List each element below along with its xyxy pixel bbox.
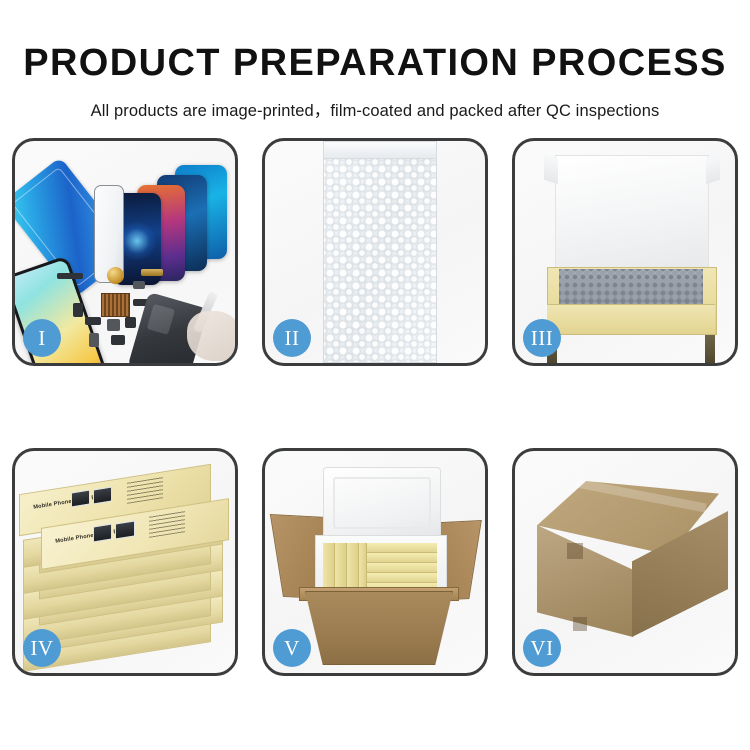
- part-small-c-icon: [85, 317, 101, 325]
- step-badge-6: VI: [523, 629, 561, 667]
- process-step-5[interactable]: V: [262, 448, 488, 676]
- process-step-3[interactable]: III: [512, 138, 738, 366]
- carton-tab-upper-icon: [567, 543, 583, 559]
- part-small-d-icon: [107, 319, 120, 331]
- box-front-panel-icon: [547, 304, 715, 334]
- part-small-h-icon: [111, 335, 125, 345]
- vibration-motor-icon: [107, 267, 124, 284]
- box-corner-right-icon: [705, 335, 715, 363]
- box-window-front-a-icon: [93, 523, 112, 542]
- process-step-6[interactable]: VI: [512, 448, 738, 676]
- yellow-stack-row-4-icon: [367, 573, 437, 583]
- step-badge-3: III: [523, 319, 561, 357]
- bag-seal-icon: [323, 141, 437, 159]
- step-badge-1: I: [23, 319, 61, 357]
- step-badge-4: IV: [23, 629, 61, 667]
- step-badge-5: V: [273, 629, 311, 667]
- step-badge-2: II: [273, 319, 311, 357]
- yellow-box-1-icon: [323, 543, 335, 589]
- page-title: PRODUCT PREPARATION PROCESS: [0, 0, 750, 84]
- carton-tab-lower-icon: [573, 617, 587, 631]
- carton-body-icon: [305, 591, 453, 665]
- page-header: PRODUCT PREPARATION PROCESS All products…: [0, 0, 750, 121]
- part-flex-icon: [141, 269, 163, 276]
- chip-icon: [101, 293, 130, 317]
- yellow-box-4-icon: [359, 543, 367, 589]
- process-step-grid: I II III: [12, 138, 738, 678]
- box-lid-icon: [555, 155, 709, 273]
- yellow-box-3-icon: [347, 543, 359, 589]
- box-window-back-a-icon: [71, 489, 90, 507]
- bubble-fill-icon: [559, 269, 703, 307]
- box-window-back-b-icon: [93, 486, 112, 504]
- part-bar-icon: [57, 273, 83, 279]
- yellow-stack-row-1-icon: [367, 543, 437, 553]
- box-window-front-b-icon: [115, 520, 135, 539]
- bubble-wrap-bag-icon: [323, 149, 437, 363]
- foam-lid-icon: [323, 467, 441, 539]
- process-step-4[interactable]: Mobile Phone Spare Parts Mobile Phone Sp…: [12, 448, 238, 676]
- part-small-e-icon: [125, 317, 136, 328]
- yellow-stack-row-2-icon: [367, 553, 437, 563]
- part-small-g-icon: [89, 333, 99, 347]
- part-small-b-icon: [73, 303, 83, 317]
- page-subtitle: All products are image-printed，film-coat…: [0, 84, 750, 121]
- process-step-2[interactable]: II: [262, 138, 488, 366]
- foam-box-contents-icon: [323, 543, 437, 589]
- yellow-box-2-icon: [335, 543, 347, 589]
- hand-icon: [187, 311, 238, 361]
- part-small-a-icon: [133, 281, 145, 289]
- yellow-stack-row-3-icon: [367, 563, 437, 573]
- process-step-1[interactable]: I: [12, 138, 238, 366]
